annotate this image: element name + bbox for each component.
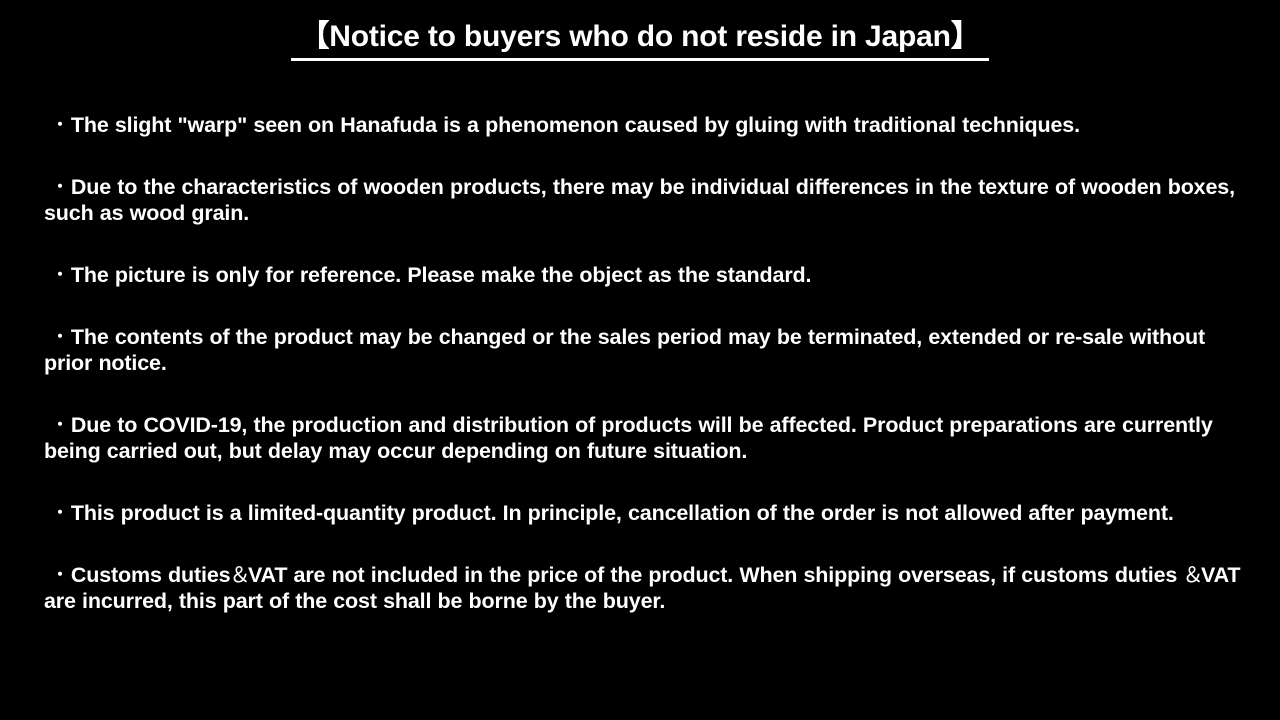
notice-text: This product is a limited-quantity produ… bbox=[71, 501, 1174, 525]
notice-text: Due to COVID-19, the production and dist… bbox=[44, 413, 1213, 463]
notice-item-covid-19: ・Due to COVID-19, the production and dis… bbox=[44, 412, 1244, 464]
slide-canvas: 【Notice to buyers who do not reside in J… bbox=[0, 0, 1280, 720]
notice-text-part-1: Customs duties bbox=[71, 563, 231, 587]
notice-text: The slight "warp" seen on Hanafuda is a … bbox=[71, 113, 1080, 137]
notice-item-wooden-products: ・Due to the characteristics of wooden pr… bbox=[44, 174, 1244, 226]
notice-item-picture-reference: ・The picture is only for reference. Plea… bbox=[44, 262, 1244, 288]
notice-text: Due to the characteristics of wooden pro… bbox=[44, 175, 1235, 225]
notice-item-warp: ・The slight "warp" seen on Hanafuda is a… bbox=[44, 112, 1244, 138]
bullet-icon: ・ bbox=[52, 565, 68, 584]
bullet-icon: ・ bbox=[52, 115, 68, 134]
notice-item-contents-change: ・The contents of the product may be chan… bbox=[44, 324, 1244, 376]
bullet-icon: ・ bbox=[52, 327, 68, 346]
notice-text-part-2: VAT are not included in the price of the… bbox=[248, 563, 1184, 587]
notice-list: ・The slight "warp" seen on Hanafuda is a… bbox=[44, 112, 1244, 614]
notice-text: The picture is only for reference. Pleas… bbox=[71, 263, 812, 287]
notice-item-customs-vat: ・Customs duties＆VAT are not included in … bbox=[44, 562, 1244, 614]
ampersand-glyph: ＆ bbox=[1182, 563, 1202, 587]
page-title: 【Notice to buyers who do not reside in J… bbox=[291, 18, 988, 61]
notice-text: The contents of the product may be chang… bbox=[44, 325, 1205, 375]
ampersand-glyph: ＆ bbox=[229, 563, 249, 587]
title-container: 【Notice to buyers who do not reside in J… bbox=[0, 18, 1280, 61]
bullet-icon: ・ bbox=[52, 415, 68, 434]
bullet-icon: ・ bbox=[52, 265, 68, 284]
bullet-icon: ・ bbox=[52, 177, 68, 196]
bullet-icon: ・ bbox=[52, 503, 68, 522]
notice-item-limited-quantity: ・This product is a limited-quantity prod… bbox=[44, 500, 1244, 526]
